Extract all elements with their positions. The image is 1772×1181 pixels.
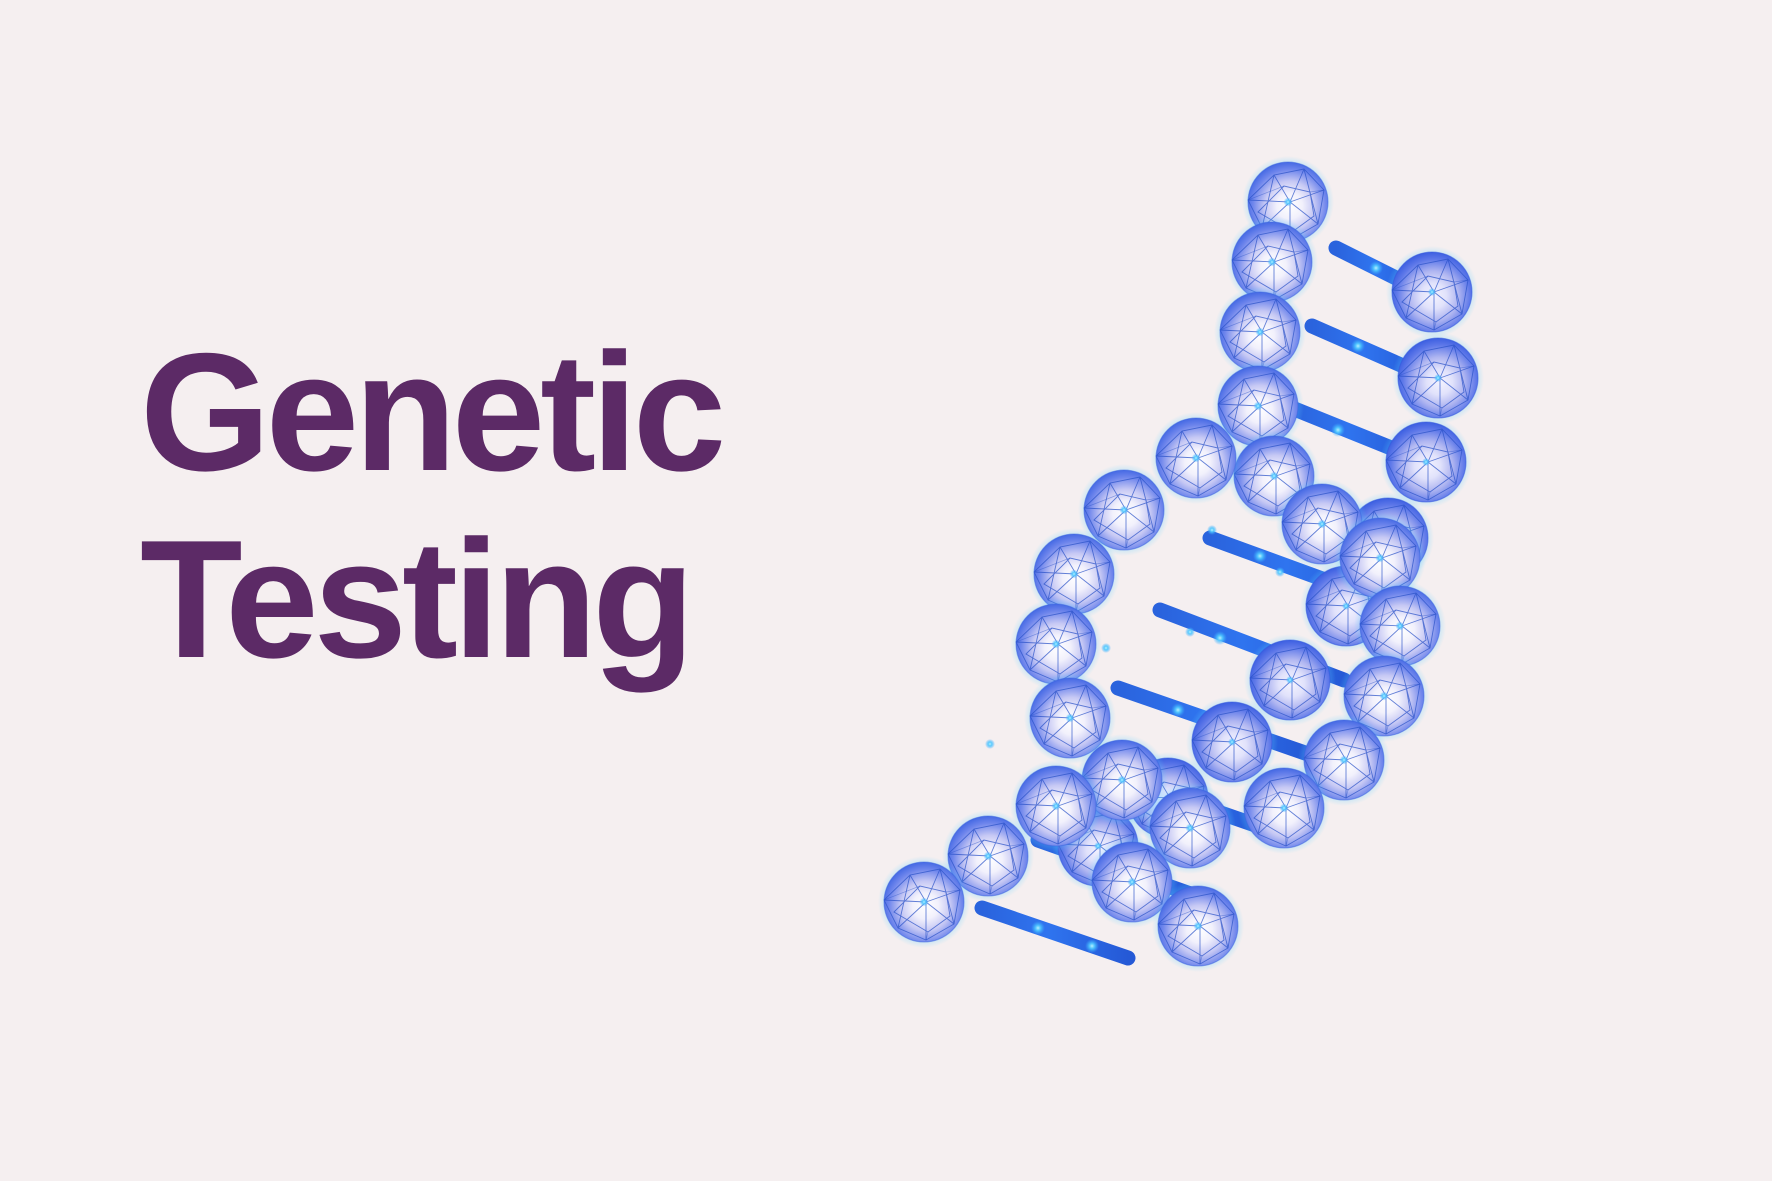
page-title-line-2: Testing: [140, 517, 900, 682]
dna-strand-a: [878, 156, 1446, 972]
page-title: Genetic Testing: [140, 330, 900, 681]
dna-helix-svg: [860, 140, 1480, 900]
dna-sphere: [878, 856, 970, 948]
poster-canvas: Genetic Testing: [0, 0, 1772, 1181]
page-title-line-1: Genetic: [140, 330, 900, 495]
dna-sphere: [1152, 880, 1244, 972]
dna-sphere: [1238, 762, 1330, 854]
dna-sphere: [1386, 246, 1478, 338]
dna-sphere: [1392, 332, 1484, 424]
dna-helix-illustration: [860, 140, 1480, 900]
